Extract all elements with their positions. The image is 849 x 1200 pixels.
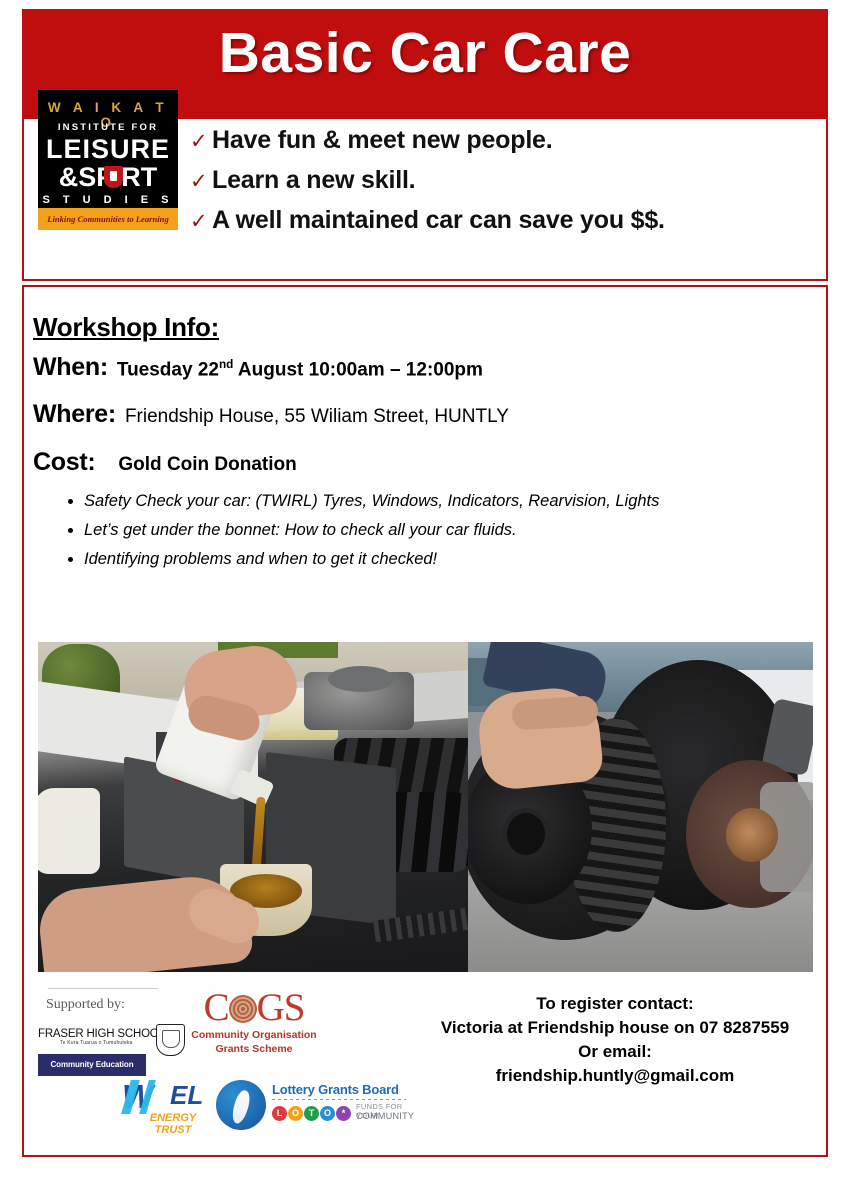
loto-ball: T (304, 1106, 319, 1121)
pouring-engine-oil-photo (38, 642, 468, 972)
contact-line: Or email: (420, 1040, 810, 1064)
benefit-text: Have fun & meet new people. (212, 126, 553, 155)
logo-tagline-bar: Linking Communities to Learning (38, 208, 178, 230)
fingerprint-icon (229, 995, 257, 1023)
logo-line-institute: INSTITUTE FOR (38, 122, 178, 133)
cost-value: Gold Coin Donation (118, 454, 296, 476)
community-education-label: Community Education (38, 1054, 146, 1076)
topic-item: Identifying problems and when to get it … (84, 547, 844, 572)
logo-tagline: Linking Communities to Learning (38, 208, 178, 230)
wel-energy-trust-logo: W EL ENERGY TRUST (118, 1078, 228, 1136)
footer-divider (48, 988, 158, 989)
fraser-maori-name: Te Kura Tuarua o Tumuhuteka (60, 1040, 133, 1046)
wel-el-letters: EL (170, 1080, 203, 1111)
loto-ball: * (336, 1106, 351, 1121)
benefit-item: ✓ Have fun & meet new people. (190, 126, 820, 155)
page-title: Basic Car Care (22, 18, 828, 88)
contact-block: To register contact: Victoria at Friends… (420, 992, 810, 1088)
when-label: When: (33, 353, 108, 382)
lottery-funds-line2: COMMUNITY (356, 1111, 414, 1121)
where-value: Friendship House, 55 Wiliam Street, HUNT… (125, 406, 509, 428)
cogs-subtitle-line2: Grants Scheme (184, 1043, 324, 1056)
workshop-where-row: Where: Friendship House, 55 Wiliam Stree… (33, 400, 509, 429)
loto-ball: O (320, 1106, 335, 1121)
lottery-title: Lottery Grants Board (272, 1082, 399, 1097)
loto-ball: L (272, 1106, 287, 1121)
poster-root: Basic Car Care W A I K A T O INSTITUTE F… (0, 0, 849, 1200)
fraser-name: FRASER HIGH SCHOOL (38, 1028, 165, 1040)
where-label: Where: (33, 400, 116, 429)
logo-line-studies: S T U D I E S (38, 194, 178, 206)
workshop-cost-row: Cost: Gold Coin Donation (33, 448, 297, 477)
ordinal-suffix: nd (219, 358, 233, 371)
contact-line: To register contact: (420, 992, 810, 1016)
benefit-item: ✓ Learn a new skill. (190, 166, 820, 195)
lottery-dotted-rule (272, 1099, 406, 1100)
wintec-logo: W A I K A T O INSTITUTE FOR LEISURE &SP … (38, 90, 178, 230)
check-icon: ✓ (190, 209, 212, 233)
benefit-item: ✓ A well maintained car can save you $$. (190, 206, 820, 235)
cost-label: Cost: (33, 448, 95, 477)
cogs-logo: CGS Community Organisation Grants Scheme (184, 988, 324, 1056)
contact-line: Victoria at Friendship house on 07 82875… (420, 1016, 810, 1040)
changing-car-tyre-photo (468, 642, 813, 972)
loto-balls: LOTO* (272, 1103, 352, 1121)
topics-list: Safety Check your car: (TWIRL) Tyres, Wi… (58, 489, 844, 576)
wel-tagline-trust: TRUST (118, 1124, 228, 1136)
check-icon: ✓ (190, 169, 212, 193)
contact-email[interactable]: friendship.huntly@gmail.com (420, 1064, 810, 1088)
benefit-text: A well maintained car can save you $$. (212, 206, 665, 235)
lottery-grants-board-logo: Lottery Grants Board LOTO* FUNDS FOR YOU… (216, 1078, 406, 1134)
wel-mark: W EL (118, 1078, 228, 1112)
school-crest-icon (156, 1024, 185, 1056)
benefit-text: Learn a new skill. (212, 166, 415, 195)
topic-item: Safety Check your car: (TWIRL) Tyres, Wi… (84, 489, 844, 514)
photo-strip (38, 642, 813, 972)
benefits-list: ✓ Have fun & meet new people. ✓ Learn a … (190, 126, 820, 246)
logo-line-leisure: LEISURE (38, 134, 178, 164)
nz-globe-icon (216, 1080, 266, 1130)
book-shield-icon (104, 166, 123, 188)
workshop-when-row: When: Tuesday 22nd August 10:00am – 12:0… (33, 353, 483, 382)
check-icon: ✓ (190, 129, 212, 153)
topic-item: Let’s get under the bonnet: How to check… (84, 518, 844, 543)
loto-ball: O (288, 1106, 303, 1121)
cogs-wordmark: CGS (184, 988, 324, 1028)
supported-by-label: Supported by: (46, 997, 125, 1013)
community-education-badge: Community Education (38, 1054, 146, 1076)
workshop-info-heading: Workshop Info: (33, 312, 219, 343)
when-value: Tuesday 22nd August 10:00am – 12:00pm (117, 358, 483, 381)
cogs-subtitle-line1: Community Organisation (184, 1029, 324, 1042)
